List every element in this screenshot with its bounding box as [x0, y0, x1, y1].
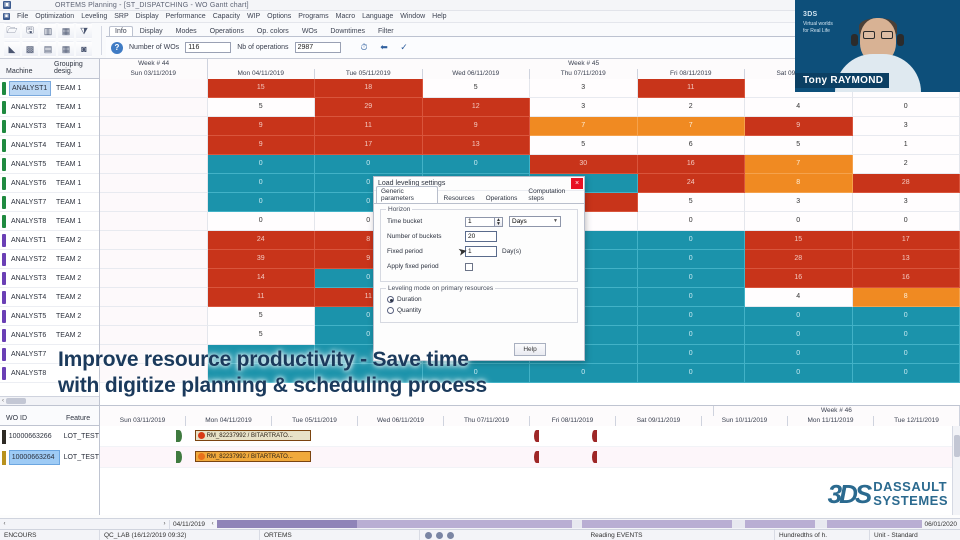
resource-row[interactable]: ANALYST7TEAM 1: [0, 193, 99, 212]
toolbar-icon-grid: 🗁 🖫 ▥ ▦ ⧩ ◣ ▩ ▤ ▦ ◙: [0, 23, 97, 58]
load-cell[interactable]: [100, 269, 208, 288]
resource-row[interactable]: ANALYST6TEAM 1: [0, 174, 99, 193]
load-cell[interactable]: 5: [530, 136, 638, 155]
load-cell[interactable]: 0: [423, 155, 531, 174]
load-cell[interactable]: 5: [745, 136, 853, 155]
tab-info[interactable]: Info: [109, 26, 133, 36]
window-title: ORTEMS Planning - [ST_DISPATCHING - WO G…: [15, 2, 249, 9]
matrix-icon[interactable]: ▩: [22, 41, 38, 57]
load-cell[interactable]: [100, 212, 208, 231]
resource-color-bar: [2, 101, 6, 114]
resource-color-bar: [2, 253, 6, 266]
wo-day-label: Mon 04/11/2019: [186, 416, 272, 426]
radio-duration-row[interactable]: Duration: [387, 294, 571, 305]
resource-name[interactable]: ANALYST2: [9, 104, 51, 111]
leveling-mode-fieldset: Leveling mode on primary resources Durat…: [380, 288, 578, 323]
load-cell[interactable]: 0: [638, 345, 746, 364]
menu-capacity[interactable]: Capacity: [213, 13, 240, 20]
load-cell[interactable]: 5: [208, 98, 316, 117]
wo-day-label: Wed 06/11/2019: [358, 416, 444, 426]
speaker-name-label: Tony RAYMOND: [795, 73, 889, 88]
resource-name[interactable]: ANALYST1: [9, 81, 51, 96]
wo-milestone-icon: [592, 451, 597, 463]
resource-name[interactable]: ANALYST8: [9, 370, 51, 377]
tab-display[interactable]: Display: [134, 26, 169, 36]
load-cell[interactable]: 13: [423, 136, 531, 155]
wo-milestone-icon: [534, 430, 539, 442]
dialog-tab-resources[interactable]: Resources: [439, 193, 480, 203]
wo-vscrollbar[interactable]: [952, 426, 960, 515]
fixed-period-unit: Day(s): [502, 248, 521, 255]
apply-fixed-period-label: Apply fixed period: [387, 263, 465, 270]
tab-op-colors[interactable]: Op. colors: [251, 26, 295, 36]
gantt-icon[interactable]: ▦: [58, 23, 74, 39]
load-cell[interactable]: 16: [853, 269, 960, 288]
resource-row[interactable]: ANALYST6TEAM 2: [0, 326, 99, 345]
status-icons: [420, 532, 459, 539]
diagonal-icon[interactable]: ◣: [4, 41, 20, 57]
wo-day-header-row: Sun 03/11/2019Mon 04/11/2019Tue 05/11/20…: [100, 416, 960, 426]
load-cell[interactable]: 3: [530, 79, 638, 98]
status-indicator-icon-3: [447, 532, 454, 539]
status-indicator-icon-2: [436, 532, 443, 539]
timeline-track[interactable]: [217, 520, 912, 528]
webcam-brand: 3DS Virtual worlds for Real Life: [803, 10, 833, 36]
load-cell[interactable]: 5: [208, 326, 316, 345]
filter-icon[interactable]: ⧩: [76, 23, 92, 39]
load-cell[interactable]: 11: [208, 288, 316, 307]
toolbar-action-icons: ⏱ ⬅ ✓: [357, 41, 412, 54]
load-cell[interactable]: [100, 288, 208, 307]
load-cell[interactable]: 0: [638, 212, 746, 231]
load-cell[interactable]: 16: [745, 269, 853, 288]
load-cell[interactable]: 0: [853, 212, 960, 231]
load-cell[interactable]: 0: [745, 364, 853, 383]
load-cell[interactable]: 0: [745, 326, 853, 345]
tab-wos[interactable]: WOs: [296, 26, 324, 36]
load-cell[interactable]: [100, 250, 208, 269]
resource-header: Machine Grouping desig.: [0, 59, 99, 79]
resource-color-bar: [2, 310, 6, 323]
resource-name[interactable]: ANALYST4: [9, 294, 51, 301]
promo-line-2: with digitize planning & scheduling proc…: [58, 373, 487, 399]
wo-id[interactable]: 10000663264: [9, 450, 60, 465]
resource-row[interactable]: ANALYST4TEAM 1: [0, 136, 99, 155]
load-cell[interactable]: 24: [208, 231, 316, 250]
resource-color-bar: [2, 291, 6, 304]
load-cell[interactable]: 8: [853, 288, 960, 307]
headset-left-icon: [851, 34, 858, 46]
load-cell[interactable]: 4: [745, 98, 853, 117]
load-cell[interactable]: [100, 174, 208, 193]
load-cell[interactable]: [100, 136, 208, 155]
task-status-dot: [198, 453, 205, 460]
tab-operations[interactable]: Operations: [204, 26, 250, 36]
load-cell[interactable]: 0: [745, 307, 853, 326]
col-grouping-header: Grouping desig.: [48, 61, 99, 78]
wo-week-label: [100, 406, 714, 416]
dassault-systemes-logo: 3DS DASSAULT SYSTEMES: [828, 480, 948, 507]
menu-help[interactable]: Help: [432, 13, 446, 20]
load-cell[interactable]: [100, 155, 208, 174]
load-cell[interactable]: 11: [315, 117, 423, 136]
wo-track: RM_82237992 / BITARTRATO...: [100, 426, 960, 447]
load-cell[interactable]: 0: [853, 364, 960, 383]
timeline-scrollbar[interactable]: ‹ › 04/11/2019 ‹ › 06/01/2020: [0, 518, 960, 529]
load-cell[interactable]: 0: [853, 345, 960, 364]
load-cell[interactable]: 13: [853, 250, 960, 269]
status-precision: Hundredths of h.: [775, 530, 870, 540]
load-cell[interactable]: [100, 193, 208, 212]
day-label: Mon 04/11/2019: [208, 69, 316, 79]
wo-day-label: Sun 10/11/2019: [702, 416, 788, 426]
resource-group: TEAM 1: [51, 104, 99, 111]
wo-list-item[interactable]: 10000663264LOT_TEST: [0, 447, 99, 468]
load-cell[interactable]: 15: [208, 79, 316, 98]
load-cell[interactable]: [100, 231, 208, 250]
load-cell[interactable]: 3: [853, 117, 960, 136]
load-cell[interactable]: 0: [638, 364, 746, 383]
week-label: Week # 44: [100, 59, 208, 69]
dialog-body: Horizon Time bucket 1 ▲▼ Days ▼ Number o…: [374, 203, 584, 360]
load-cell[interactable]: 9: [423, 117, 531, 136]
resource-row[interactable]: ANALYST5TEAM 1: [0, 155, 99, 174]
scroll-left-arrow-icon[interactable]: ‹: [0, 521, 9, 527]
status-unit-mode: Unit - Standard: [870, 530, 960, 540]
menu-app-icon: ▣: [3, 13, 10, 20]
resource-color-bar: [2, 158, 6, 171]
load-cell[interactable]: 4: [745, 288, 853, 307]
load-cell[interactable]: 30: [530, 155, 638, 174]
wo-id[interactable]: 10000663266: [9, 433, 60, 440]
menu-optimization[interactable]: Optimization: [35, 13, 74, 20]
load-cell[interactable]: 5: [638, 193, 746, 212]
scroll-right-arrow-icon[interactable]: ›: [160, 521, 169, 527]
wo-day-label: Mon 11/11/2019: [788, 416, 874, 426]
col-feature-header: Feature: [60, 415, 99, 425]
start-marker-icon: [176, 451, 182, 463]
promo-line-1: Improve resource productivity - Save tim…: [58, 347, 487, 373]
load-cell[interactable]: 0: [853, 98, 960, 117]
load-cell[interactable]: 17: [853, 231, 960, 250]
resource-name[interactable]: ANALYST5: [9, 313, 51, 320]
load-cell[interactable]: 1: [853, 136, 960, 155]
resource-color-bar: [2, 234, 6, 247]
day-label: Fri 08/11/2019: [638, 69, 746, 79]
wo-vscroll-thumb[interactable]: [954, 435, 960, 457]
resource-name[interactable]: ANALYST4: [9, 142, 51, 149]
resource-row[interactable]: ANALYST2TEAM 1: [0, 98, 99, 117]
wo-gantt-header: Week # 46 Sun 03/11/2019Mon 04/11/2019Tu…: [100, 406, 960, 426]
menu-window[interactable]: Window: [400, 13, 425, 20]
wo-week-label: Week # 46: [714, 406, 960, 416]
load-cell[interactable]: 9: [208, 136, 316, 155]
resource-row[interactable]: ANALYST3TEAM 1: [0, 117, 99, 136]
load-cell[interactable]: 11: [638, 79, 746, 98]
menu-leveling[interactable]: Leveling: [81, 13, 107, 20]
resource-color-bar: [2, 272, 6, 285]
backward-schedule-icon[interactable]: ⬅: [377, 41, 392, 54]
dialog-tab-computation-steps[interactable]: Computation steps: [523, 186, 582, 203]
dialog-help-button[interactable]: Help: [514, 343, 546, 356]
bar-chart-icon[interactable]: ▥: [40, 23, 56, 39]
resource-color-bar: [2, 120, 6, 133]
load-cell[interactable]: 0: [638, 326, 746, 345]
wo-task-bar[interactable]: RM_82237992 / BITARTRATO...: [195, 451, 311, 462]
load-cell[interactable]: [100, 117, 208, 136]
time-bucket-unit-select[interactable]: Days ▼: [509, 216, 561, 227]
wo-week-header-row: Week # 46: [100, 406, 960, 416]
menu-programs[interactable]: Programs: [298, 13, 328, 20]
fixed-period-row: Fixed period 1 Day(s): [387, 245, 571, 258]
wo-track: RM_82237992 / BITARTRATO...: [100, 447, 960, 468]
load-cell[interactable]: 0: [853, 307, 960, 326]
legend-icon[interactable]: ▤: [40, 41, 56, 57]
wo-task-bar[interactable]: RM_82237992 / BITARTRATO...: [195, 430, 311, 441]
load-cell[interactable]: 0: [638, 231, 746, 250]
radio-duration[interactable]: [387, 296, 394, 303]
left-scroll-segment[interactable]: ‹ ›: [0, 520, 170, 529]
load-cell[interactable]: 6: [638, 136, 746, 155]
palette-icon[interactable]: ◙: [76, 41, 92, 57]
radio-duration-label: Duration: [397, 296, 422, 303]
load-cell[interactable]: 2: [638, 98, 746, 117]
wo-feature: LOT_TEST: [60, 433, 99, 440]
menu-srp[interactable]: SRP: [114, 13, 128, 20]
dialog-tab-generic-parameters[interactable]: Generic parameters: [376, 186, 438, 203]
resource-color-bar: [2, 196, 6, 209]
apply-fixed-period-row: Apply fixed period: [387, 260, 571, 273]
dialog-tab-operations[interactable]: Operations: [481, 193, 523, 203]
scroll-thumb[interactable]: [6, 398, 26, 404]
resource-name[interactable]: ANALYST8: [9, 218, 51, 225]
number-of-buckets-label: Number of buckets: [387, 233, 465, 240]
wo-list-pane: WO ID Feature 10000663266LOT_TEST1000066…: [0, 406, 100, 515]
resource-color-bar: [2, 329, 6, 342]
fixed-period-input[interactable]: 1: [465, 246, 497, 257]
wo-day-label: Tue 12/11/2019: [874, 416, 960, 426]
resource-color-bar: [2, 367, 6, 380]
load-cell[interactable]: [100, 326, 208, 345]
webcam-overlay: 3DS Virtual worlds for Real Life Tony RA…: [795, 0, 960, 92]
wo-gantt-panel: WO ID Feature 10000663266LOT_TEST1000066…: [0, 405, 960, 515]
resource-name[interactable]: ANALYST1: [9, 237, 51, 244]
timeline-left-arrow-icon[interactable]: ‹: [208, 521, 217, 527]
resource-color-bar: [2, 82, 6, 95]
wo-milestone-icon: [534, 451, 539, 463]
timeline-thumb-b[interactable]: [357, 520, 572, 528]
load-cell[interactable]: 0: [208, 155, 316, 174]
webcam-brand-line-1: Virtual worlds: [803, 21, 833, 29]
load-cell[interactable]: 3: [530, 98, 638, 117]
glasses-icon: [863, 31, 893, 39]
num-ops-input[interactable]: 2987: [295, 42, 341, 53]
load-cell[interactable]: 7: [638, 117, 746, 136]
resource-name[interactable]: ANALYST2: [9, 256, 51, 263]
day-label: Sun 03/11/2019: [100, 69, 208, 79]
resource-row[interactable]: ANALYST8TEAM 1: [0, 212, 99, 231]
tab-modes[interactable]: Modes: [170, 26, 203, 36]
resource-name[interactable]: ANALYST6: [9, 332, 51, 339]
load-cell[interactable]: 3: [745, 193, 853, 212]
help-icon[interactable]: ?: [111, 42, 123, 54]
load-cell[interactable]: [100, 79, 208, 98]
resource-group: TEAM 2: [51, 237, 99, 244]
load-cell[interactable]: 12: [423, 98, 531, 117]
load-cell[interactable]: 0: [208, 174, 316, 193]
menu-macro[interactable]: Macro: [336, 13, 355, 20]
menu-wip[interactable]: WIP: [247, 13, 260, 20]
resource-group: TEAM 1: [51, 123, 99, 130]
menu-options[interactable]: Options: [267, 13, 291, 20]
resource-color-bar: [2, 177, 6, 190]
load-cell[interactable]: 0: [530, 364, 638, 383]
load-cell[interactable]: 17: [315, 136, 423, 155]
resource-name[interactable]: ANALYST3: [9, 275, 51, 282]
load-cell[interactable]: 0: [745, 212, 853, 231]
resource-name[interactable]: ANALYST6: [9, 180, 51, 187]
wo-list-header: WO ID Feature: [0, 406, 99, 426]
tab-filter[interactable]: Filter: [372, 26, 400, 36]
status-bar: ENCOURS QC_LAB (16/12/2019 09:32) ORTEMS…: [0, 529, 960, 540]
load-cell[interactable]: 18: [315, 79, 423, 98]
num-wos-label: Number of WOs: [129, 44, 179, 51]
load-cell[interactable]: 39: [208, 250, 316, 269]
wo-color-bar: [2, 451, 6, 465]
resource-group: TEAM 1: [51, 199, 99, 206]
load-cell[interactable]: 7: [745, 155, 853, 174]
resource-row[interactable]: ANALYST5TEAM 2: [0, 307, 99, 326]
resource-group: TEAM 2: [51, 313, 99, 320]
number-of-buckets-input[interactable]: 20: [465, 231, 497, 242]
load-cell[interactable]: 0: [208, 193, 316, 212]
timeline-thumb-a[interactable]: [217, 520, 357, 528]
resource-color-bar: [2, 139, 6, 152]
resource-name[interactable]: ANALYST3: [9, 123, 51, 130]
wo-day-label: Tue 05/11/2019: [272, 416, 358, 426]
start-marker-icon: [176, 430, 182, 442]
timeline-thumb-e[interactable]: [827, 520, 922, 528]
menu-display[interactable]: Display: [136, 13, 159, 20]
radio-quantity-row[interactable]: Quantity: [387, 305, 571, 316]
load-cell[interactable]: 3: [853, 193, 960, 212]
wo-day-label: Sun 03/11/2019: [100, 416, 186, 426]
num-wos-input[interactable]: 116: [185, 42, 231, 53]
webcam-brand-mark: 3DS: [803, 11, 818, 18]
task-status-dot: [198, 432, 205, 439]
load-cell[interactable]: 16: [638, 155, 746, 174]
load-cell[interactable]: 0: [638, 250, 746, 269]
resource-row[interactable]: ANALYST4TEAM 2: [0, 288, 99, 307]
load-cell[interactable]: 0: [315, 155, 423, 174]
load-cell[interactable]: [100, 98, 208, 117]
ortems-planning-window: ▣ ORTEMS Planning - [ST_DISPATCHING - WO…: [0, 0, 960, 540]
resource-group: TEAM 2: [51, 332, 99, 339]
resource-group: TEAM 1: [51, 142, 99, 149]
resource-name[interactable]: ANALYST5: [9, 161, 51, 168]
load-cell[interactable]: 7: [530, 117, 638, 136]
timeline-end-date: 06/01/2020: [921, 521, 960, 528]
grid-icon[interactable]: ▦: [58, 41, 74, 57]
wo-day-label: Fri 08/11/2019: [530, 416, 616, 426]
resource-group: TEAM 1: [51, 218, 99, 225]
load-cell[interactable]: 0: [745, 345, 853, 364]
load-cell[interactable]: 0: [638, 269, 746, 288]
resource-row[interactable]: ANALYST3TEAM 2: [0, 269, 99, 288]
load-cell[interactable]: 28: [853, 174, 960, 193]
load-cell[interactable]: 24: [638, 174, 746, 193]
menu-language[interactable]: Language: [362, 13, 393, 20]
time-bucket-input[interactable]: 1: [465, 217, 495, 227]
load-cell[interactable]: [100, 307, 208, 326]
load-cell[interactable]: 29: [315, 98, 423, 117]
time-bucket-stepper[interactable]: ▲▼: [495, 217, 503, 227]
wo-day-label: Sat 09/11/2019: [616, 416, 702, 426]
timeline-thumb-c[interactable]: [582, 520, 732, 528]
load-cell[interactable]: 0: [208, 212, 316, 231]
resource-group: TEAM 2: [51, 256, 99, 263]
validate-icon[interactable]: ✓: [397, 41, 412, 54]
load-cell[interactable]: 5: [423, 79, 531, 98]
day-label: Wed 06/11/2019: [423, 69, 531, 79]
save-icon[interactable]: 🖫: [22, 23, 38, 39]
load-cell[interactable]: 0: [638, 307, 746, 326]
menu-performance[interactable]: Performance: [166, 13, 206, 20]
promo-caption: Improve resource productivity - Save tim…: [58, 347, 487, 398]
load-cell[interactable]: 9: [745, 117, 853, 136]
webcam-brand-line-2: for Real Life: [803, 28, 833, 36]
load-cell[interactable]: 28: [745, 250, 853, 269]
time-bucket-label: Time bucket: [387, 218, 465, 225]
load-cell[interactable]: 5: [208, 307, 316, 326]
menu-file[interactable]: File: [17, 13, 28, 20]
resource-name[interactable]: ANALYST7: [9, 351, 51, 358]
wo-color-bar: [2, 430, 6, 444]
resource-row[interactable]: ANALYST2TEAM 2: [0, 250, 99, 269]
load-cell[interactable]: 15: [745, 231, 853, 250]
load-cell[interactable]: 8: [745, 174, 853, 193]
wo-list-item[interactable]: 10000663266LOT_TEST: [0, 426, 99, 447]
status-message: Reading EVENTS: [459, 530, 775, 540]
timeline-thumb-d[interactable]: [745, 520, 815, 528]
load-cell[interactable]: 14: [208, 269, 316, 288]
status-session: QC_LAB (16/12/2019 09:32): [100, 530, 260, 540]
load-cell[interactable]: 0: [853, 326, 960, 345]
wo-milestone-icon: [592, 430, 597, 442]
resource-row[interactable]: ANALYST1TEAM 1: [0, 79, 99, 98]
resource-row[interactable]: ANALYST1TEAM 2: [0, 231, 99, 250]
load-cell[interactable]: 0: [638, 288, 746, 307]
timeline-start-date: 04/11/2019: [170, 521, 208, 528]
radio-quantity[interactable]: [387, 307, 394, 314]
col-machine-header: Machine: [0, 68, 48, 78]
load-row: 91197793: [100, 117, 960, 136]
schedule-clock-icon[interactable]: ⏱: [357, 41, 372, 54]
load-cell[interactable]: 2: [853, 155, 960, 174]
dialog-tabs: Generic parameters Resources Operations …: [374, 191, 584, 203]
tab-downtimes[interactable]: Downtimes: [324, 26, 371, 36]
load-cell[interactable]: 9: [208, 117, 316, 136]
open-icon[interactable]: 🗁: [4, 23, 20, 39]
status-app: ORTEMS: [260, 530, 420, 540]
wo-day-label: Thu 07/11/2019: [444, 416, 530, 426]
resource-color-bar: [2, 348, 6, 361]
horizon-fieldset: Horizon Time bucket 1 ▲▼ Days ▼ Number o…: [380, 209, 578, 282]
radio-quantity-label: Quantity: [397, 307, 421, 314]
wo-row-list: 10000663266LOT_TEST10000663264LOT_TEST: [0, 426, 99, 468]
apply-fixed-period-checkbox[interactable]: [465, 263, 473, 271]
resource-name[interactable]: ANALYST7: [9, 199, 51, 206]
